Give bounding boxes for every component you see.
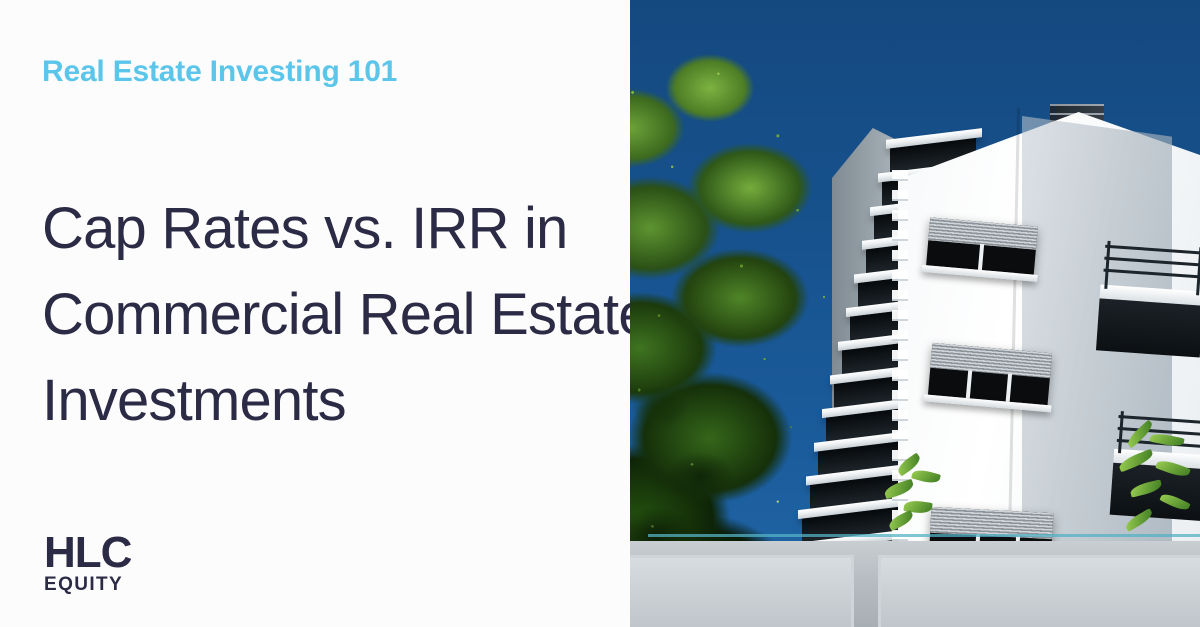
plant-leaf: [883, 479, 915, 500]
foreground-wall: [630, 541, 1200, 627]
logo-wordmark: HLC: [44, 533, 164, 573]
window-upper: [926, 217, 1038, 274]
railing-teal-upper-bar: [648, 534, 1200, 537]
plant-leaf: [1155, 458, 1191, 480]
headline-line-3: Investments: [42, 358, 642, 444]
category-eyebrow: Real Estate Investing 101: [42, 52, 397, 92]
window-mullion: [978, 244, 984, 270]
article-hero-banner: Real Estate Investing 101 Cap Rates vs. …: [0, 0, 1200, 627]
hlc-equity-logo[interactable]: HLC EQUITY: [44, 533, 164, 596]
headline-line-2: Commercial Real Estate: [42, 272, 642, 358]
plant-leaf: [1149, 432, 1184, 449]
plant-leaf: [911, 468, 941, 486]
foreground-plant-right: [1116, 425, 1200, 545]
page-title: Cap Rates vs. IRR in Commercial Real Est…: [42, 186, 642, 444]
headline-line-1: Cap Rates vs. IRR in: [42, 186, 642, 272]
text-panel: Real Estate Investing 101 Cap Rates vs. …: [0, 0, 630, 627]
foreground-plant-left: [878, 453, 948, 543]
plant-leaf: [1117, 449, 1154, 473]
hero-photo: [630, 0, 1200, 627]
balcony-upper: [1096, 284, 1200, 361]
plant-leaf: [1129, 479, 1163, 497]
wall-panel-left: [630, 555, 854, 627]
logo-subtitle: EQUITY: [44, 574, 164, 596]
window-mullion: [1006, 373, 1012, 401]
plant-leaf: [1159, 491, 1190, 513]
window-mullion: [966, 370, 972, 398]
plant-leaf: [1124, 508, 1155, 532]
balcony-soffit: [1096, 298, 1200, 357]
window-lower: [928, 343, 1052, 405]
wall-panel-right: [878, 555, 1200, 627]
foreground-dark-foliage: [630, 367, 750, 567]
plant-leaf: [887, 510, 915, 531]
